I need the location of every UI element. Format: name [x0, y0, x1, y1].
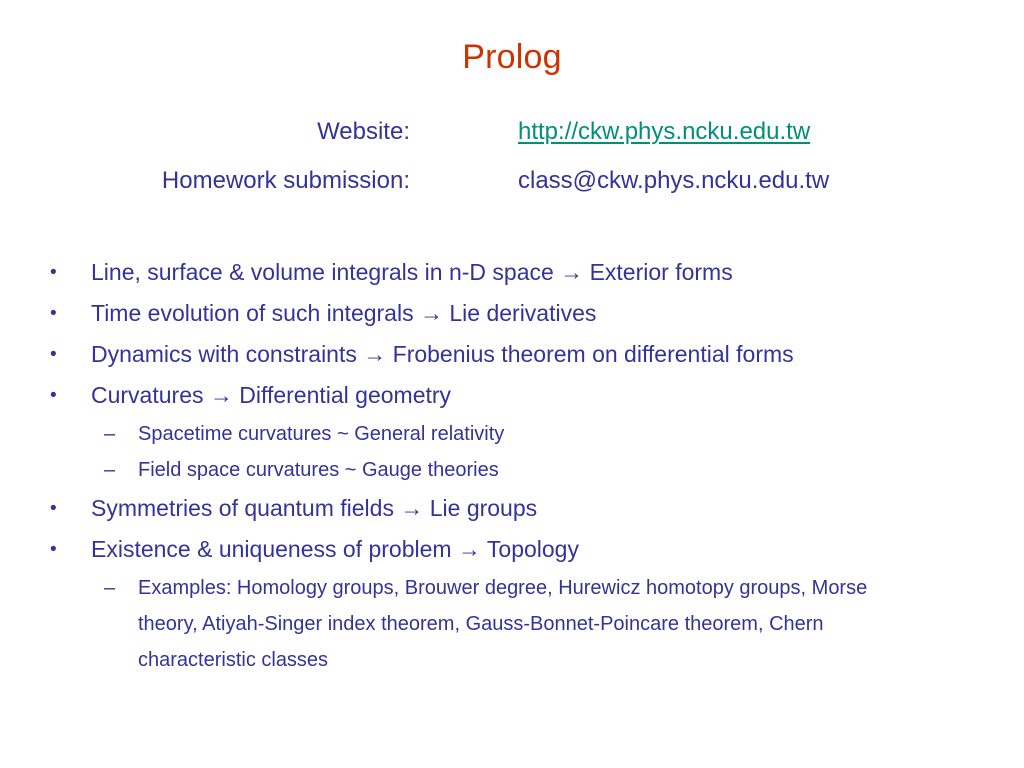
bullet-dash-icon: –: [104, 570, 138, 606]
sub-list-item-label: Examples: Homology groups, Brouwer degre…: [138, 570, 910, 678]
homework-submission-email: class@ckw.phys.ncku.edu.tw: [518, 165, 829, 197]
website-label: Website:: [0, 116, 410, 148]
list-item: • Existence & uniqueness of problem → To…: [0, 529, 1024, 570]
list-item: • Curvatures → Differential geometry: [0, 375, 1024, 416]
sub-list-item-label: Field space curvatures ~ Gauge theories: [138, 452, 910, 488]
list-item-label: Line, surface & volume integrals in n-D …: [91, 252, 1024, 293]
sub-list-item: – Field space curvatures ~ Gauge theorie…: [0, 452, 1024, 488]
slide-canvas: Prolog Website: http://ckw.phys.ncku.edu…: [0, 0, 1024, 768]
list-item-label: Curvatures → Differential geometry: [91, 375, 1024, 416]
sub-list-item: – Examples: Homology groups, Brouwer deg…: [0, 570, 1024, 678]
list-item-label: Dynamics with constraints → Frobenius th…: [91, 334, 1024, 375]
list-item: • Symmetries of quantum fields → Lie gro…: [0, 488, 1024, 529]
outline-bullet-list: • Line, surface & volume integrals in n-…: [0, 252, 1024, 678]
bullet-dot-icon: •: [50, 293, 91, 334]
list-item: • Line, surface & volume integrals in n-…: [0, 252, 1024, 293]
bullet-dot-icon: •: [50, 488, 91, 529]
page-title: Prolog: [0, 36, 1024, 78]
bullet-dot-icon: •: [50, 529, 91, 570]
list-item-label: Time evolution of such integrals → Lie d…: [91, 293, 1024, 334]
website-url-link[interactable]: http://ckw.phys.ncku.edu.tw: [518, 116, 810, 148]
list-item: • Time evolution of such integrals → Lie…: [0, 293, 1024, 334]
contact-info-block: Website: http://ckw.phys.ncku.edu.tw Hom…: [0, 116, 1024, 214]
bullet-dot-icon: •: [50, 334, 91, 375]
bullet-dash-icon: –: [104, 416, 138, 452]
contact-row-website: Website: http://ckw.phys.ncku.edu.tw: [0, 116, 1024, 148]
sub-list-item-label: Spacetime curvatures ~ General relativit…: [138, 416, 910, 452]
contact-row-homework: Homework submission: class@ckw.phys.ncku…: [0, 165, 1024, 197]
list-item-label: Symmetries of quantum fields → Lie group…: [91, 488, 1024, 529]
list-item-label: Existence & uniqueness of problem → Topo…: [91, 529, 1024, 570]
list-item: • Dynamics with constraints → Frobenius …: [0, 334, 1024, 375]
bullet-dash-icon: –: [104, 452, 138, 488]
bullet-dot-icon: •: [50, 252, 91, 293]
homework-submission-label: Homework submission:: [0, 165, 410, 197]
sub-list-item: – Spacetime curvatures ~ General relativ…: [0, 416, 1024, 452]
bullet-dot-icon: •: [50, 375, 91, 416]
